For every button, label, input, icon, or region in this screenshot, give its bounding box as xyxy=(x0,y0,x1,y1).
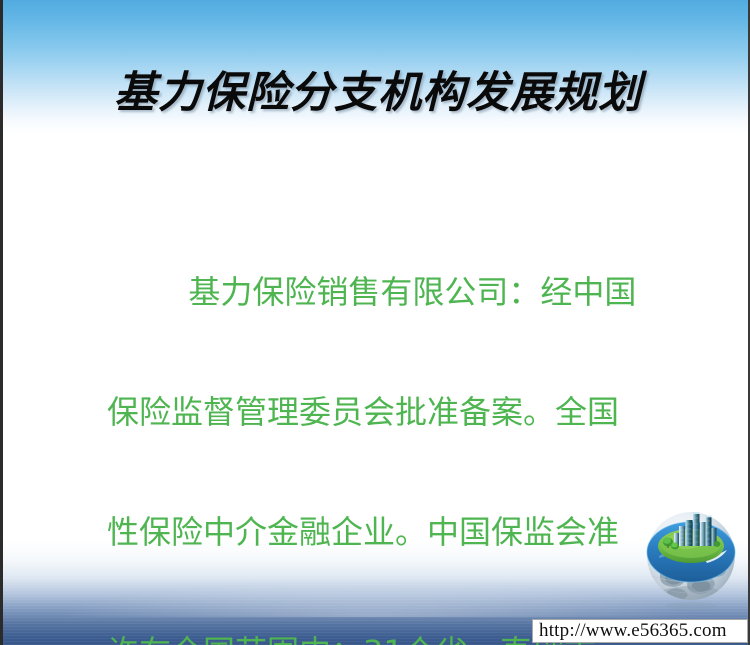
green-city-globe-icon xyxy=(639,508,743,612)
watermark-url-box: http://www.e56365.com xyxy=(532,619,748,643)
slide-canvas: 基力保险分支机构发展规划 基力保险销售有限公司：经中国 保险监督管理委员会批准备… xyxy=(0,0,750,645)
slide-title: 基力保险分支机构发展规划 xyxy=(3,58,750,120)
watermark-url-text: http://www.e56365.com xyxy=(539,620,727,642)
slide-body-paragraph: 基力保险销售有限公司：经中国 保险监督管理委员会批准备案。全国 性保险中介金融企… xyxy=(107,192,667,645)
body-line: 性保险中介金融企业。中国保监会准 xyxy=(107,512,667,552)
body-line: 基力保险销售有限公司：经中国 xyxy=(107,272,667,312)
body-line: 保险监督管理委员会批准备案。全国 xyxy=(107,392,667,432)
